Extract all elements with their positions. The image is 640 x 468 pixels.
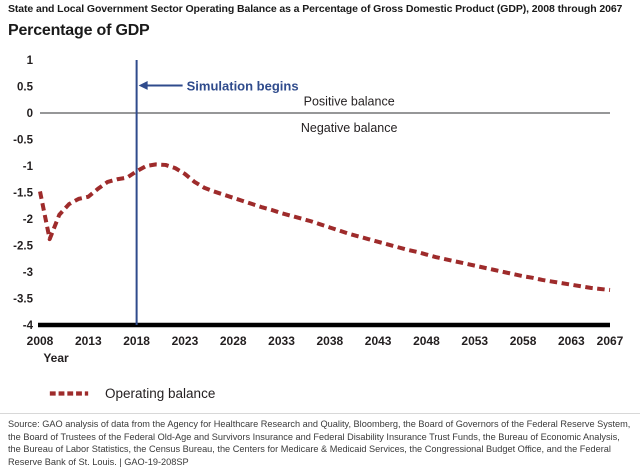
- x-tick-label: 2043: [365, 334, 392, 348]
- y-tick-label: -1.5: [13, 188, 33, 200]
- legend-swatch-operating-balance: [46, 391, 92, 396]
- y-tick-label: 0.5: [17, 82, 34, 94]
- footer-divider: [0, 413, 640, 414]
- x-tick-label: 2058: [510, 334, 537, 348]
- x-tick-label: 2008: [27, 334, 54, 348]
- source-note: Source: GAO analysis of data from the Ag…: [8, 418, 634, 468]
- x-tick-label: 2018: [123, 334, 150, 348]
- legend-label-operating-balance: Operating balance: [105, 386, 215, 401]
- figure-title: State and Local Government Sector Operat…: [8, 3, 636, 16]
- x-tick-label: 2067: [597, 334, 624, 348]
- figure-container: State and Local Government Sector Operat…: [0, 0, 640, 460]
- simulation-begins-arrow-head: [139, 81, 148, 90]
- x-tick-label: 2023: [172, 334, 199, 348]
- y-tick-label: -2.5: [13, 241, 33, 253]
- y-tick-label: -3: [23, 267, 33, 279]
- y-tick-label: -1: [23, 161, 34, 173]
- line-chart: 10.50-0.5-1-1.5-2-2.5-3-3.5-420082013201…: [0, 44, 640, 374]
- x-tick-label: 2013: [75, 334, 102, 348]
- x-tick-label: 2028: [220, 334, 247, 348]
- y-tick-label: 0: [27, 108, 33, 120]
- x-tick-label: 2053: [461, 334, 488, 348]
- x-tick-label: 2038: [316, 334, 343, 348]
- x-tick-label: 2048: [413, 334, 440, 348]
- negative-balance-label: Negative balance: [301, 121, 398, 135]
- y-tick-label: -2: [23, 214, 33, 226]
- x-tick-label: 2033: [268, 334, 295, 348]
- series-line-operating-balance: [40, 164, 610, 290]
- simulation-begins-label: Simulation begins: [187, 78, 299, 93]
- x-axis-title: Year: [43, 351, 69, 365]
- chart-legend: Operating balance: [0, 380, 640, 406]
- y-tick-label: 1: [27, 55, 34, 67]
- y-axis-title: Percentage of GDP: [8, 22, 150, 40]
- y-tick-label: -0.5: [13, 135, 33, 147]
- y-tick-label: -3.5: [13, 294, 33, 306]
- positive-balance-label: Positive balance: [304, 94, 395, 108]
- y-tick-label: -4: [23, 320, 34, 332]
- plot-area: 10.50-0.5-1-1.5-2-2.5-3-3.5-420082013201…: [0, 44, 640, 374]
- x-tick-label: 2063: [558, 334, 585, 348]
